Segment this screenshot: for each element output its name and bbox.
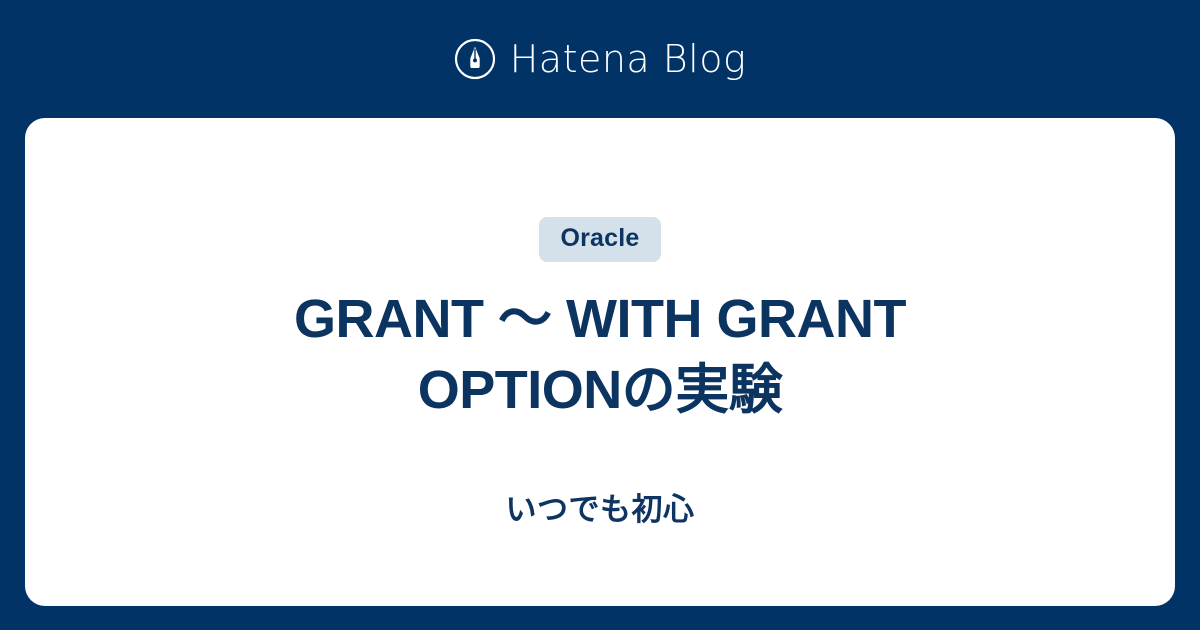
entry-card: Oracle GRANT 〜 WITH GRANT OPTIONの実験 いつでも… bbox=[25, 118, 1175, 606]
og-card-page: Hatena Blog Oracle GRANT 〜 WITH GRANT OP… bbox=[0, 0, 1200, 630]
entry-card-content: Oracle GRANT 〜 WITH GRANT OPTIONの実験 いつでも… bbox=[25, 118, 1175, 528]
entry-title: GRANT 〜 WITH GRANT OPTIONの実験 bbox=[220, 284, 980, 427]
pen-nib-in-circle-icon bbox=[454, 38, 496, 80]
hatena-blog-brand-bar: Hatena Blog bbox=[0, 0, 1200, 118]
category-tag-oracle[interactable]: Oracle bbox=[539, 217, 660, 262]
hatena-blog-brand-name: Hatena Blog bbox=[510, 40, 747, 78]
category-tag-row: Oracle bbox=[539, 217, 660, 262]
blog-name: いつでも初心 bbox=[506, 491, 695, 528]
